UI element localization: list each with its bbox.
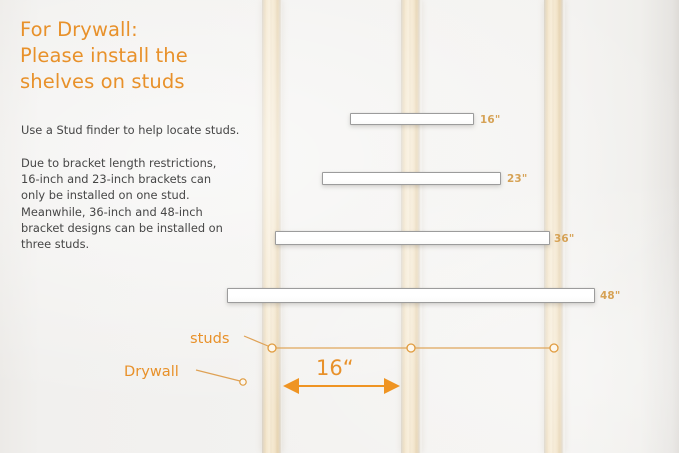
bracket-label-48: 48" bbox=[600, 290, 620, 302]
bracket-bar-23 bbox=[322, 172, 501, 185]
bracket-bar-16 bbox=[350, 113, 474, 125]
stud-right bbox=[544, 0, 565, 453]
intro-paragraph: Use a Stud finder to help locate studs. bbox=[21, 122, 276, 138]
studs-annotation-label: studs bbox=[190, 330, 229, 347]
detail-paragraph: Due to bracket length restrictions, 16-i… bbox=[21, 155, 273, 252]
drywall-instruction-graphic: For Drywall: Please install the shelves … bbox=[0, 0, 679, 453]
bracket-bar-48 bbox=[227, 288, 595, 303]
dimension-label-16in: 16“ bbox=[316, 356, 354, 380]
bracket-label-16: 16" bbox=[480, 114, 500, 126]
bracket-label-36: 36" bbox=[554, 233, 574, 245]
stud-center bbox=[401, 0, 422, 453]
drywall-annotation-label: Drywall bbox=[124, 363, 179, 380]
bracket-bar-36 bbox=[275, 231, 550, 245]
bracket-label-23: 23" bbox=[507, 173, 527, 185]
page-title: For Drywall: Please install the shelves … bbox=[20, 17, 270, 95]
